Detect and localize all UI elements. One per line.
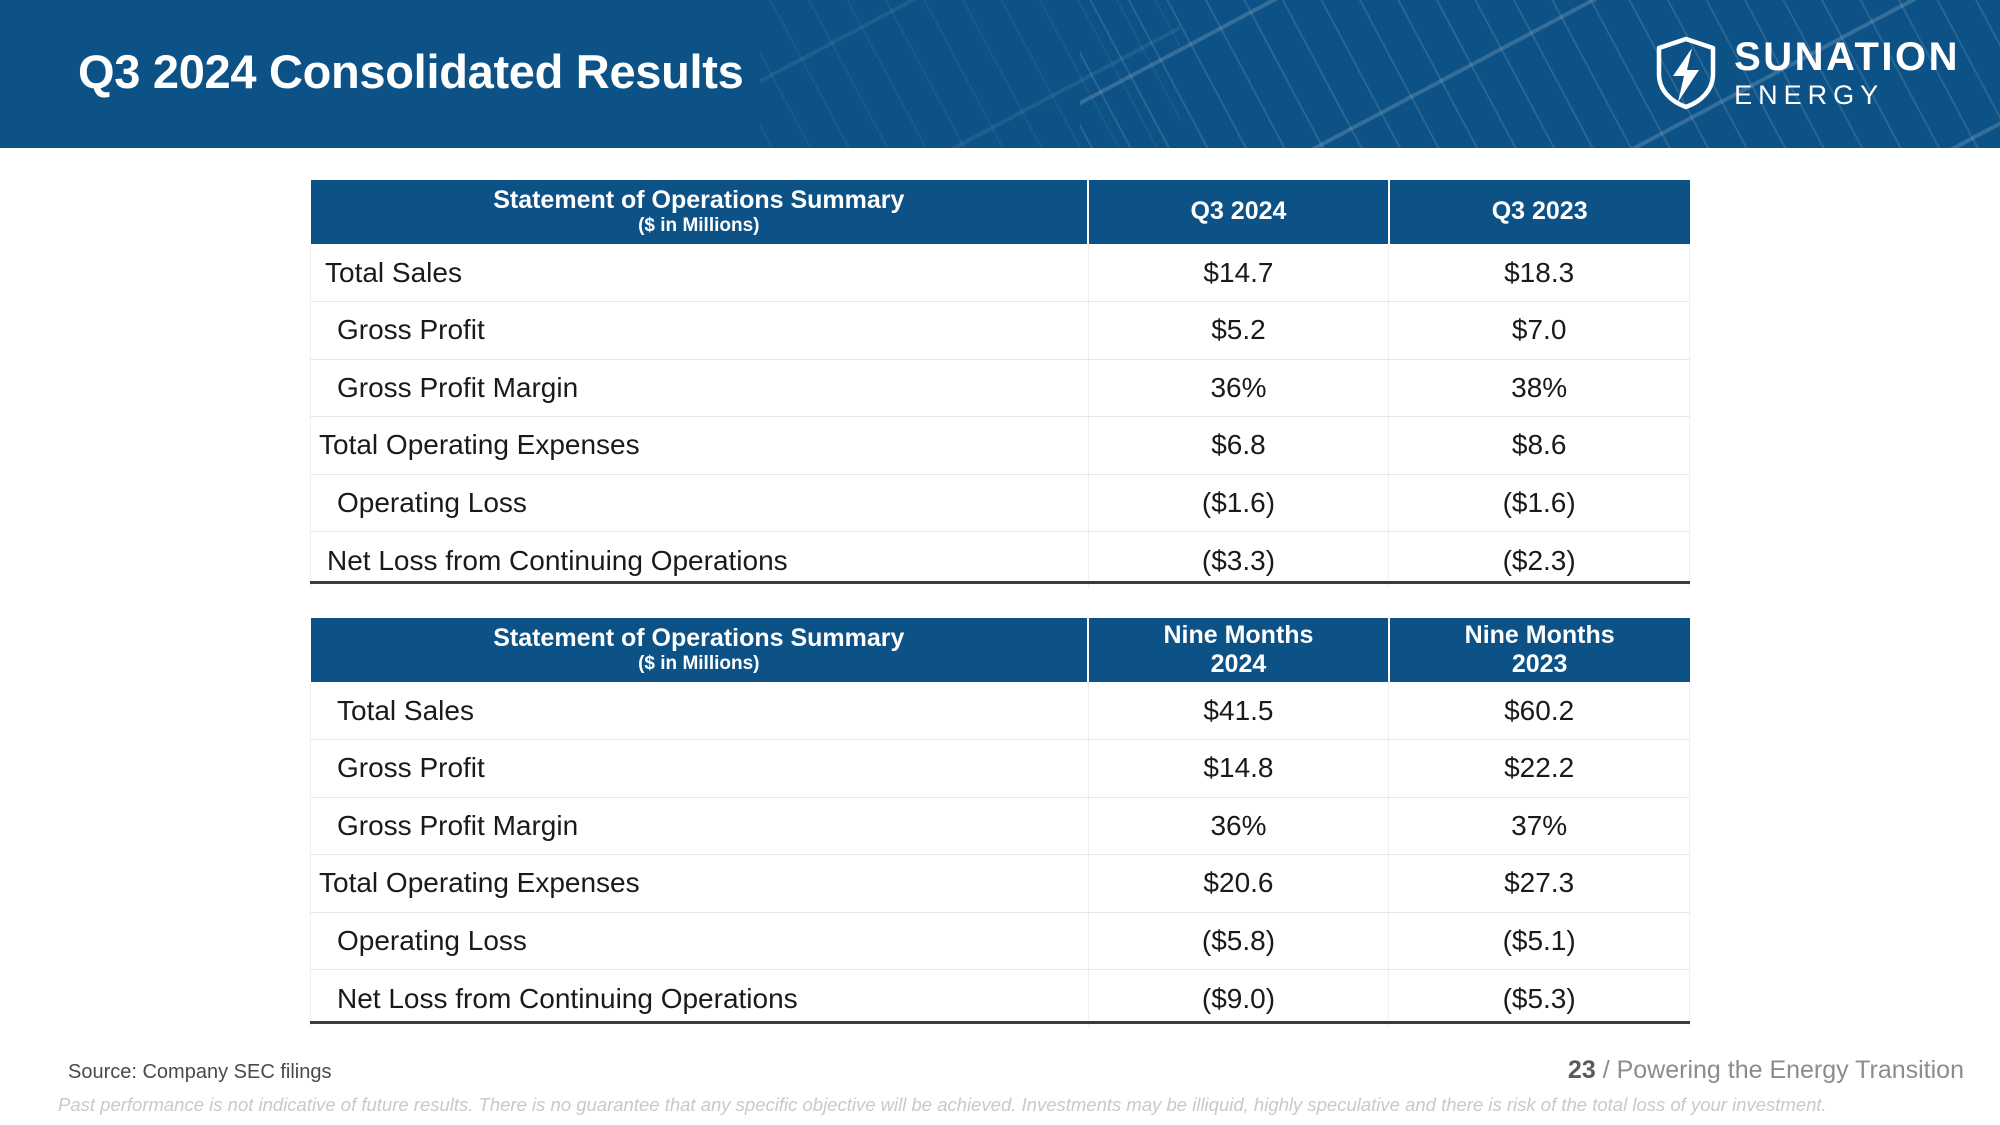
row-value-b: 37% [1389, 797, 1690, 855]
row-value-b: $60.2 [1389, 682, 1690, 740]
row-label: Total Sales [311, 244, 1089, 302]
column-header-nine-months-2023: Nine Months 2023 [1389, 618, 1690, 682]
table-row: Total Sales $14.7 $18.3 [311, 244, 1690, 302]
column-header-q3-2023: Q3 2023 [1389, 180, 1690, 244]
slide-header: Q3 2024 Consolidated Results SUNATION EN… [0, 0, 2000, 148]
row-value-b: ($5.1) [1389, 912, 1690, 970]
row-label: Gross Profit Margin [311, 797, 1089, 855]
row-value-a: $5.2 [1088, 302, 1389, 360]
logo-wordmark: SUNATION ENERGY [1734, 37, 1960, 109]
row-value-a: 36% [1088, 797, 1389, 855]
column-header-title: Statement of Operations Summary [311, 625, 1088, 651]
table-row: Operating Loss ($5.8) ($5.1) [311, 912, 1690, 970]
row-value-a: $14.8 [1088, 740, 1389, 798]
table-row: Operating Loss ($1.6) ($1.6) [311, 474, 1690, 532]
row-label: Operating Loss [311, 474, 1089, 532]
row-label: Gross Profit [311, 740, 1089, 798]
row-label: Total Operating Expenses [311, 417, 1089, 475]
row-value-a: 36% [1088, 359, 1389, 417]
footer-tagline: / Powering the Energy Transition [1603, 1056, 1964, 1084]
column-header-subtitle: ($ in Millions) [311, 653, 1088, 675]
row-value-b: $7.0 [1389, 302, 1690, 360]
table-row: Total Sales $41.5 $60.2 [311, 682, 1690, 740]
column-header-label: Statement of Operations Summary ($ in Mi… [311, 618, 1089, 682]
column-header-subtitle: ($ in Millions) [311, 215, 1088, 237]
column-header-nine-months-2024: Nine Months 2024 [1088, 618, 1389, 682]
table-header-row: Statement of Operations Summary ($ in Mi… [311, 180, 1690, 244]
disclaimer-note: Past performance is not indicative of fu… [58, 1094, 1827, 1116]
row-label: Gross Profit [311, 302, 1089, 360]
source-note: Source: Company SEC filings [68, 1061, 331, 1084]
row-value-a: ($1.6) [1088, 474, 1389, 532]
quarterly-results-table: Statement of Operations Summary ($ in Mi… [310, 180, 1690, 589]
solar-panel-pattern-left-icon [760, 0, 1180, 148]
row-value-b: $8.6 [1389, 417, 1690, 475]
quarterly-table-bottom-rule [310, 581, 1690, 584]
table-row: Net Loss from Continuing Operations ($9.… [311, 970, 1690, 1028]
table-row: Total Operating Expenses $6.8 $8.6 [311, 417, 1690, 475]
row-value-a: $14.7 [1088, 244, 1389, 302]
page-title: Q3 2024 Consolidated Results [78, 44, 743, 99]
sunation-logo: SUNATION ENERGY [1654, 34, 1960, 112]
row-value-a: $20.6 [1088, 855, 1389, 913]
row-label: Net Loss from Continuing Operations [311, 970, 1089, 1028]
row-label: Gross Profit Margin [311, 359, 1089, 417]
row-value-a: $6.8 [1088, 417, 1389, 475]
row-value-b: $18.3 [1389, 244, 1690, 302]
table-row: Gross Profit $5.2 $7.0 [311, 302, 1690, 360]
nine-months-results-table: Statement of Operations Summary ($ in Mi… [310, 618, 1690, 1027]
column-header-title: Statement of Operations Summary [311, 187, 1088, 213]
row-label: Operating Loss [311, 912, 1089, 970]
table-row: Gross Profit Margin 36% 37% [311, 797, 1690, 855]
column-header-label: Statement of Operations Summary ($ in Mi… [311, 180, 1089, 244]
row-value-b: ($5.3) [1389, 970, 1690, 1028]
row-value-a: $41.5 [1088, 682, 1389, 740]
logo-brand-name: SUNATION [1734, 37, 1960, 77]
row-label: Total Operating Expenses [311, 855, 1089, 913]
page-footer: 23 / Powering the Energy Transition [1568, 1056, 1964, 1085]
row-value-b: ($1.6) [1389, 474, 1690, 532]
table-row: Gross Profit $14.8 $22.2 [311, 740, 1690, 798]
table-row: Total Operating Expenses $20.6 $27.3 [311, 855, 1690, 913]
shield-bolt-icon [1654, 36, 1718, 110]
row-value-b: 38% [1389, 359, 1690, 417]
slide: Q3 2024 Consolidated Results SUNATION EN… [0, 0, 2000, 1125]
row-value-b: $22.2 [1389, 740, 1690, 798]
row-value-a: ($5.8) [1088, 912, 1389, 970]
table-row: Gross Profit Margin 36% 38% [311, 359, 1690, 417]
page-number: 23 [1568, 1056, 1596, 1084]
column-header-q3-2024: Q3 2024 [1088, 180, 1389, 244]
logo-brand-sub: ENERGY [1734, 82, 1960, 109]
row-value-b: $27.3 [1389, 855, 1690, 913]
table-header-row: Statement of Operations Summary ($ in Mi… [311, 618, 1690, 682]
nine-months-table-bottom-rule [310, 1021, 1690, 1024]
row-value-a: ($9.0) [1088, 970, 1389, 1028]
row-label: Total Sales [311, 682, 1089, 740]
